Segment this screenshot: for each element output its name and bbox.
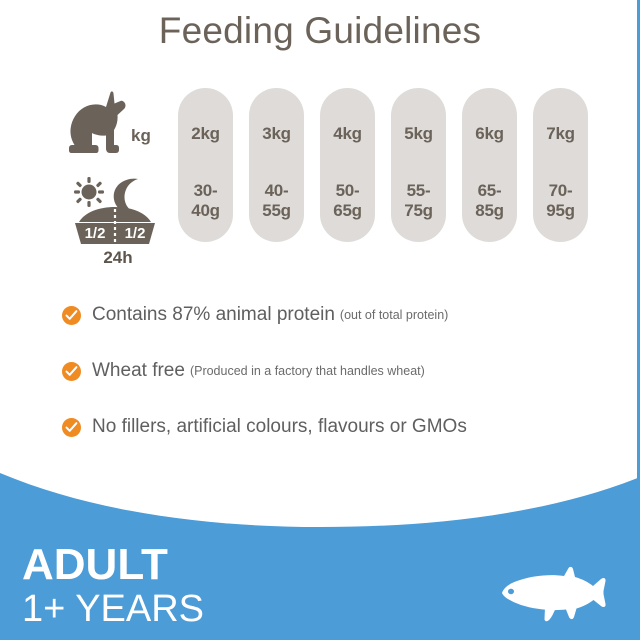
benefit-item: Wheat free (Produced in a factory that h… [62, 356, 582, 386]
feeding-table: kg [0, 88, 640, 268]
pill-amount: 70- 95g [533, 181, 588, 221]
benefit-text: Wheat free [92, 360, 185, 382]
feeding-pill: 4kg 50- 65g [320, 88, 375, 242]
feeding-pill: 2kg 30- 40g [178, 88, 233, 242]
pill-amount-line2: 85g [462, 201, 517, 221]
svg-text:1/2: 1/2 [125, 225, 146, 242]
pill-amount: 30- 40g [178, 181, 233, 221]
footer-curve-divider [0, 455, 640, 535]
pill-amount-line1: 55- [391, 181, 446, 201]
pill-amount: 65- 85g [462, 181, 517, 221]
weight-unit-label: kg [131, 126, 151, 146]
age-range-label: 1+ YEARS [22, 589, 204, 629]
benefit-text: No fillers, artificial colours, flavours… [92, 416, 467, 438]
benefits-list: Contains 87% animal protein (out of tota… [62, 300, 582, 468]
feeding-pill: 3kg 40- 55g [249, 88, 304, 242]
life-stage-label: ADULT [22, 543, 168, 587]
pill-weight: 3kg [249, 124, 304, 144]
benefit-item: No fillers, artificial colours, flavours… [62, 412, 582, 442]
check-circle-icon [62, 418, 81, 437]
pill-amount-line1: 65- [462, 181, 517, 201]
pill-amount-line2: 55g [249, 201, 304, 221]
page-title: Feeding Guidelines [0, 10, 640, 52]
pill-weight: 6kg [462, 124, 517, 144]
feeding-pill: 7kg 70- 95g [533, 88, 588, 242]
svg-text:1/2: 1/2 [85, 225, 106, 242]
feeding-pill: 5kg 55- 75g [391, 88, 446, 242]
feeding-table-icon-column: kg [62, 88, 172, 268]
feeding-guidelines-panel: Feeding Guidelines kg [0, 0, 640, 640]
pill-amount-line2: 40g [178, 201, 233, 221]
pill-amount-line2: 95g [533, 201, 588, 221]
pill-amount-line2: 75g [391, 201, 446, 221]
feeding-pill: 6kg 65- 85g [462, 88, 517, 242]
pill-weight: 4kg [320, 124, 375, 144]
benefit-text: Contains 87% animal protein [92, 304, 335, 326]
portion-row: 1/2 1/2 24h [62, 176, 172, 268]
food-bowl-icon: 1/2 1/2 [67, 176, 163, 251]
benefit-note: (Produced in a factory that handles whea… [190, 364, 425, 378]
cat-silhouette-icon [66, 88, 136, 165]
pill-amount-line2: 65g [320, 201, 375, 221]
life-stage-footer: ADULT 1+ YEARS [0, 455, 640, 640]
period-label: 24h [74, 248, 162, 268]
benefit-note: (out of total protein) [340, 308, 448, 322]
pill-weight: 7kg [533, 124, 588, 144]
pill-amount-line1: 70- [533, 181, 588, 201]
check-circle-icon [62, 362, 81, 381]
benefit-item: Contains 87% animal protein (out of tota… [62, 300, 582, 330]
check-circle-icon [62, 306, 81, 325]
feeding-pill-list: 2kg 30- 40g 3kg 40- 55g 4kg 50- 65g [178, 88, 598, 242]
pill-weight: 5kg [391, 124, 446, 144]
pill-amount-line1: 30- [178, 181, 233, 201]
pill-amount: 55- 75g [391, 181, 446, 221]
pill-amount-line1: 40- [249, 181, 304, 201]
sun-icon [74, 177, 104, 207]
pill-amount: 50- 65g [320, 181, 375, 221]
pill-weight: 2kg [178, 124, 233, 144]
cat-weight-row: kg [62, 88, 172, 160]
fish-icon [498, 563, 622, 628]
pill-amount: 40- 55g [249, 181, 304, 221]
pill-amount-line1: 50- [320, 181, 375, 201]
